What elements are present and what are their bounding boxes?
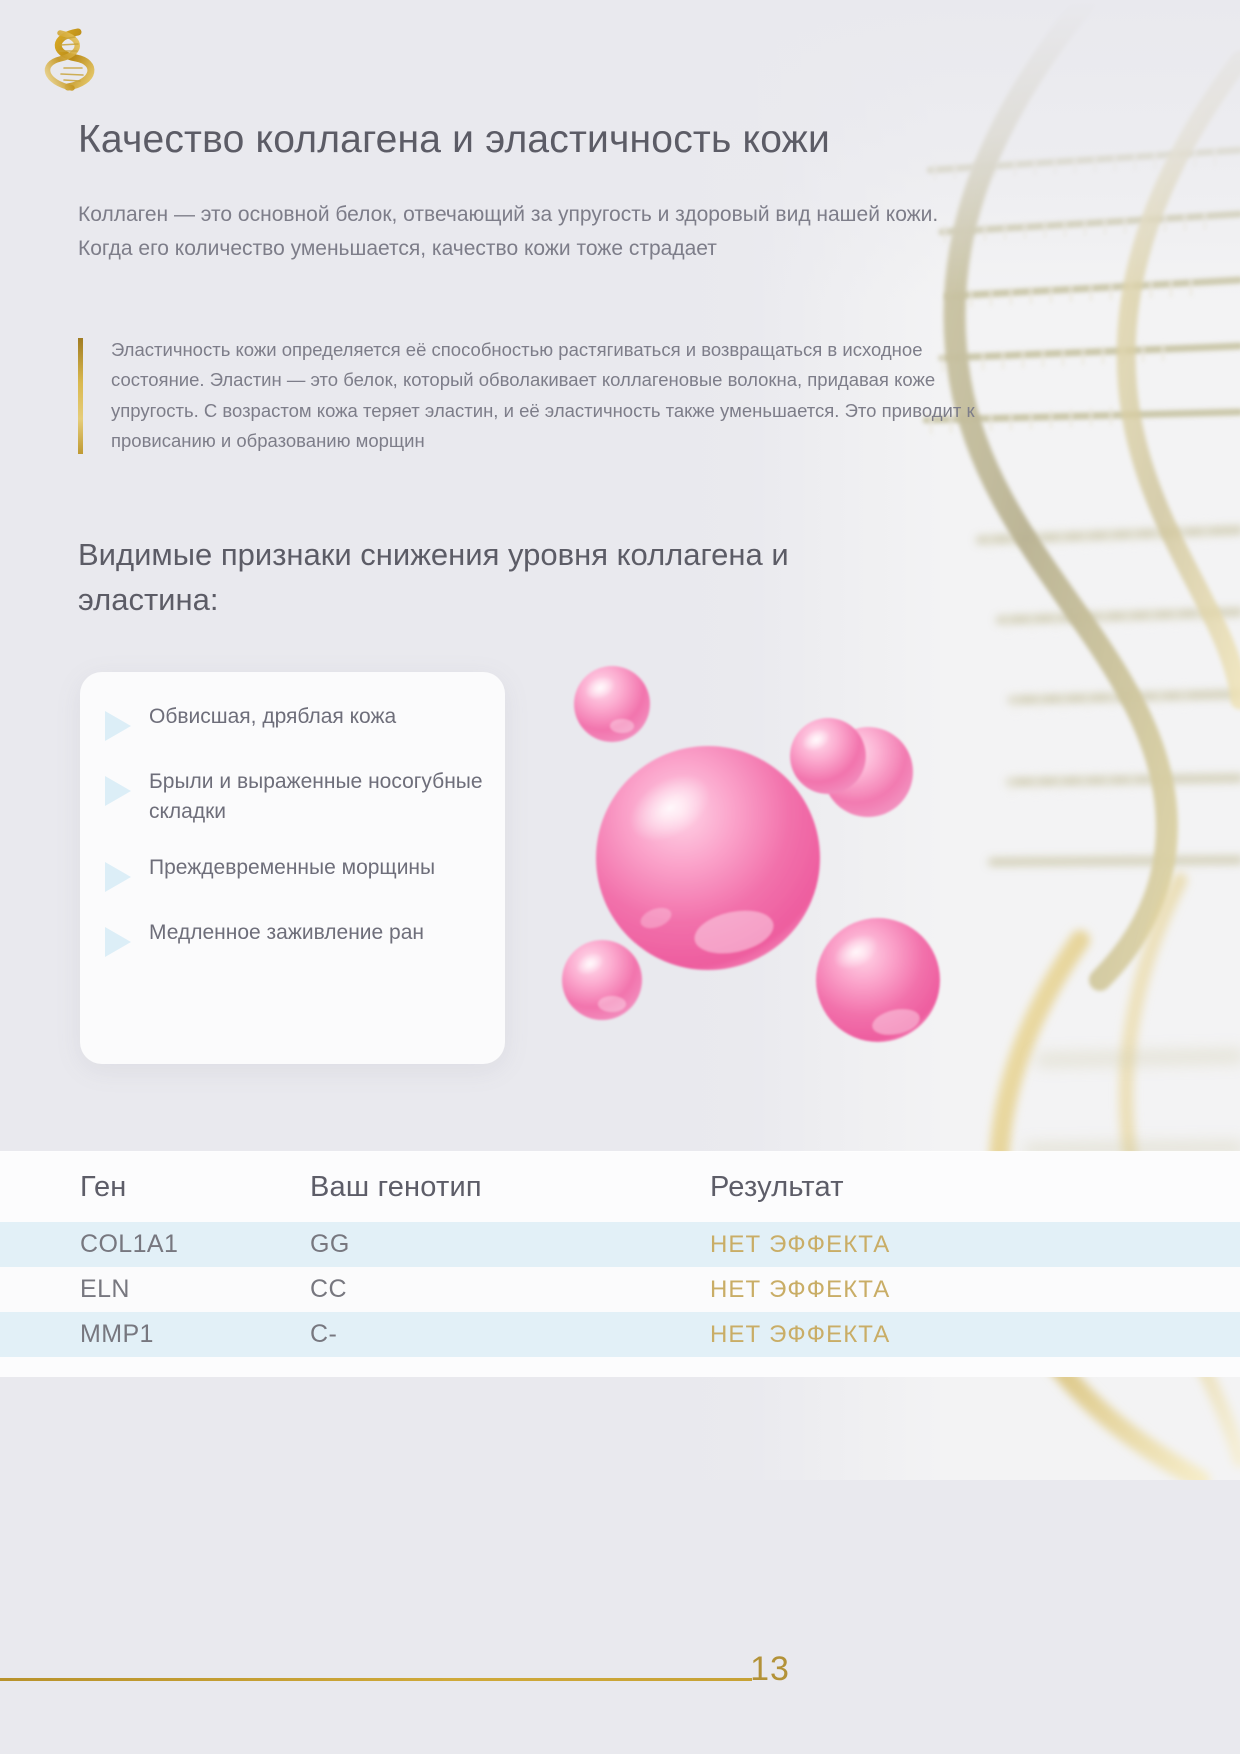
table-row: MMP1 C- НЕТ ЭФФЕКТА <box>0 1312 1240 1357</box>
triangle-bullet-icon <box>105 776 131 806</box>
table-row: COL1A1 GG НЕТ ЭФФЕКТА <box>0 1222 1240 1267</box>
footer-divider <box>0 1678 752 1681</box>
intro-paragraph: Коллаген — это основной белок, отвечающи… <box>78 198 978 266</box>
section-subtitle: Видимые признаки снижения уровня коллаге… <box>78 533 898 623</box>
cell-genotype: C- <box>310 1320 710 1349</box>
dna-helix-icon <box>38 24 100 96</box>
page-number: 13 <box>730 1650 810 1689</box>
table-header-row: Ген Ваш генотип Результат <box>0 1152 1240 1222</box>
list-item-label: Обвисшая, дряблая кожа <box>149 702 396 732</box>
table-row: ELN CC НЕТ ЭФФЕКТА <box>0 1267 1240 1312</box>
list-item-label: Медленное заживление ран <box>149 918 424 948</box>
cell-gene: ELN <box>0 1275 310 1304</box>
list-item-label: Брыли и выраженные носогубные складки <box>149 767 485 827</box>
list-item: Обвисшая, дряблая кожа <box>105 702 485 741</box>
column-header-result: Результат <box>710 1171 1160 1204</box>
cell-result: НЕТ ЭФФЕКТА <box>710 1276 1160 1304</box>
genotype-results-table: Ген Ваш генотип Результат COL1A1 GG НЕТ … <box>0 1152 1240 1357</box>
list-item-label: Преждевременные морщины <box>149 853 435 883</box>
triangle-bullet-icon <box>105 927 131 957</box>
cell-gene: MMP1 <box>0 1320 310 1349</box>
column-header-genotype: Ваш генотип <box>310 1171 710 1204</box>
report-page: Качество коллагена и эластичность кожи К… <box>0 0 1240 1754</box>
cell-result: НЕТ ЭФФЕКТА <box>710 1231 1160 1259</box>
visible-signs-list: Обвисшая, дряблая кожа Брыли и выраженны… <box>105 702 485 957</box>
triangle-bullet-icon <box>105 862 131 892</box>
triangle-bullet-icon <box>105 711 131 741</box>
list-item: Медленное заживление ран <box>105 918 485 957</box>
cell-result: НЕТ ЭФФЕКТА <box>710 1321 1160 1349</box>
column-header-gene: Ген <box>0 1171 310 1204</box>
cell-gene: COL1A1 <box>0 1230 310 1259</box>
highlight-quote: Эластичность кожи определяется её способ… <box>78 335 978 456</box>
cell-genotype: CC <box>310 1275 710 1304</box>
page-title: Качество коллагена и эластичность кожи <box>78 118 1058 162</box>
list-item: Брыли и выраженные носогубные складки <box>105 767 485 827</box>
cell-genotype: GG <box>310 1230 710 1259</box>
visible-signs-card: Обвисшая, дряблая кожа Брыли и выраженны… <box>80 672 505 1064</box>
list-item: Преждевременные морщины <box>105 853 485 892</box>
collagen-bubbles-illustration <box>560 660 1040 1080</box>
